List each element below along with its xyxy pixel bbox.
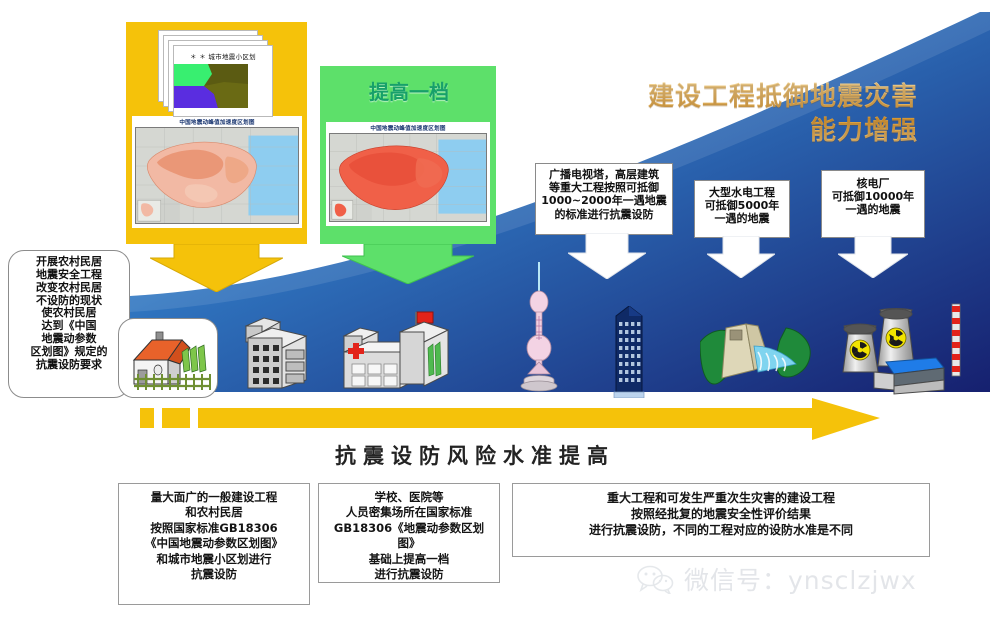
green-panel-label: 提高一档 [330, 76, 488, 105]
oriental-pearl-tower-icon [508, 262, 570, 394]
wechat-watermark: 微信号：ynsclzjwx [636, 558, 966, 600]
city-zoning-card-stack: ＊ ＊ 城市地震小区划 [158, 30, 276, 110]
callout-text: 大型水电工程 可抵御5000年 一遇的地震 [705, 186, 780, 225]
callout-text: 核电厂 可抵御10000年 一遇的地震 [832, 177, 914, 216]
map2-caption: 中国地震动峰值加速度区划图 [329, 125, 487, 133]
headline: 建设工程抵御地震灾害 能力增强 [648, 80, 918, 149]
bottom-box-schools-hospitals: 学校、医院等 人员密集场所在国家标准 GB18306《地震动参数区划图》 基础上… [318, 483, 500, 583]
green-down-arrow [342, 244, 474, 284]
callout-nuclear-power-plant: 核电厂 可抵御10000年 一遇的地震 [821, 170, 925, 238]
bottom-box-major-projects: 重大工程和可发生严重次生灾害的建设工程 按照经批复的地震安全性评价结果 进行抗震… [512, 483, 930, 557]
hydropower-dam-icon [700, 312, 812, 390]
hospital-building-icon [338, 308, 460, 394]
apartment-building-icon [234, 308, 318, 394]
yellow-down-arrow [150, 244, 283, 292]
china-map-light [135, 127, 299, 224]
china-pga-zoning-map-baseline: 中国地震动峰值加速度区划图 [132, 116, 302, 228]
white-down-arrow-2 [707, 236, 775, 278]
zoning-thumbnail-map [174, 64, 248, 108]
stack-card-title: ＊ ＊ 城市地震小区划 [174, 46, 272, 61]
risk-axis-label: 抗震设防风险水准提高 [240, 440, 710, 470]
white-down-arrow-1 [568, 233, 646, 279]
risk-level-arrow [140, 398, 880, 440]
callout-text: 广播电视塔，高层建筑 等重大工程按照可抵御 1000~2000年一遇地震 的标准… [541, 168, 666, 221]
nuclear-power-plant-icon [838, 300, 968, 396]
callout-large-hydropower: 大型水电工程 可抵御5000年 一遇的地震 [694, 180, 790, 238]
wechat-icon [636, 564, 674, 594]
bottom-box-text: 重大工程和可发生严重次生灾害的建设工程 按照经批复的地震安全性评价结果 进行抗震… [589, 491, 853, 537]
headline-line2: 能力增强 [648, 114, 918, 148]
china-map-dark [329, 133, 487, 222]
map1-caption: 中国地震动峰值加速度区划图 [135, 119, 299, 127]
bottom-box-text: 学校、医院等 人员密集场所在国家标准 GB18306《地震动参数区划图》 基础上… [334, 490, 484, 581]
bottom-box-general-construction: 量大面广的一般建设工程 和农村民居 按照国家标准GB18306 《中国地震动参数… [118, 483, 310, 605]
rural-housing-callout: 开展农村民居 地震安全工程 改变农村民居 不设防的现状 使农村民居 达到《中国 … [8, 250, 130, 398]
stack-card-front: ＊ ＊ 城市地震小区划 [173, 45, 273, 117]
callout-broadcast-tower-highrise: 广播电视塔，高层建筑 等重大工程按照可抵御 1000~2000年一遇地震 的标准… [535, 163, 673, 235]
china-pga-zoning-map-upgraded: 中国地震动峰值加速度区划图 [326, 122, 490, 226]
watermark-text: 微信号：ynsclzjwx [684, 561, 917, 597]
rural-callout-text: 开展农村民居 地震安全工程 改变农村民居 不设防的现状 使农村民居 达到《中国 … [31, 255, 108, 371]
infographic-canvas: 建设工程抵御地震灾害 能力增强 ＊ ＊ 城市地震小区划 中国地震动峰值加速度区划… [0, 0, 990, 625]
headline-line1: 建设工程抵御地震灾害 [648, 82, 918, 112]
rural-house-icon [128, 326, 212, 392]
bottom-box-text: 量大面广的一般建设工程 和农村民居 按照国家标准GB18306 《中国地震动参数… [145, 490, 283, 581]
high-rise-building-icon [608, 306, 650, 398]
white-down-arrow-3 [838, 236, 908, 278]
